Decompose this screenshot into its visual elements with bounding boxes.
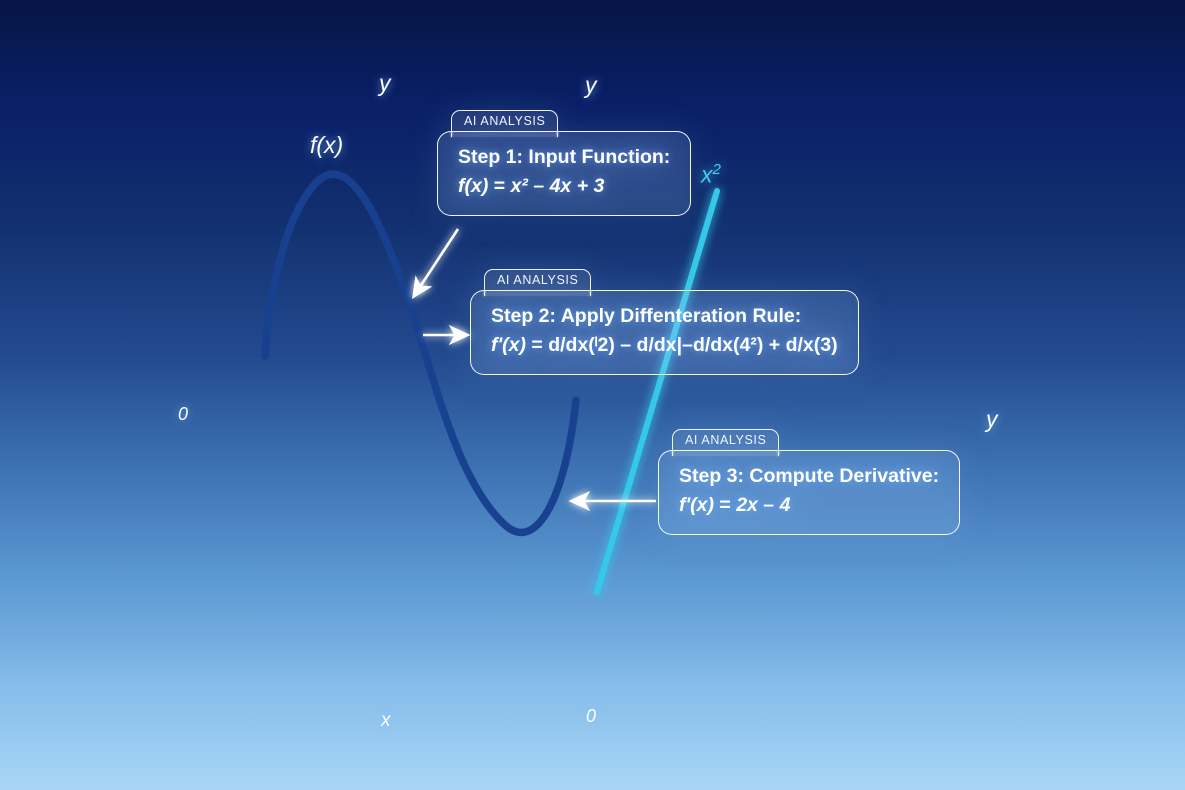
formula-rhs: x² – 4x + 3 [511, 175, 605, 197]
card-step-formula: f'(x) = 2x – 4 [679, 492, 939, 518]
axis-label-origin-bottom: 0 [586, 706, 596, 727]
card-step-formula: f'(x) = d/dx(ˡ2) – d/dx|–d/dx(4²) + d/x(… [491, 332, 838, 358]
formula-lhs: f'(x) [679, 494, 714, 516]
arrow-step1-to-curve [414, 229, 458, 296]
curve-label-x-squared: x2 [701, 161, 721, 189]
formula-equals: = [719, 494, 730, 516]
ai-analysis-card-step-3[interactable]: AI ANALYSIS Step 3: Compute Derivative: … [658, 429, 960, 535]
card-step-title: Step 1: Input Function: [458, 145, 670, 170]
axis-label-x-bottom: x [381, 710, 391, 732]
ai-analysis-card-body: Step 1: Input Function: f(x) = x² – 4x +… [437, 131, 691, 216]
curve-label-x-squared-base: x [701, 162, 713, 188]
axis-label-origin-left: 0 [178, 404, 188, 425]
formula-equals: = [494, 175, 505, 197]
ai-analysis-card-body: Step 3: Compute Derivative: f'(x) = 2x –… [658, 450, 960, 535]
curve-label-fx: f(x) [310, 132, 343, 159]
formula-lhs: f'(x) [491, 334, 526, 356]
curve-label-x-squared-exponent: 2 [713, 161, 721, 178]
formula-lhs: f(x) [458, 175, 488, 197]
formula-rhs: d/dx(ˡ2) – d/dx|–d/dx(4²) + d/x(3) [548, 334, 837, 356]
axis-label-y-right: y [986, 406, 998, 433]
card-step-formula: f(x) = x² – 4x + 3 [458, 173, 670, 199]
formula-equals: = [531, 334, 542, 356]
card-step-title: Step 2: Apply Diffenteration Rule: [491, 304, 838, 329]
formula-rhs: 2x – 4 [736, 494, 790, 516]
axis-label-y-left: y [379, 70, 391, 97]
axis-label-y-middle: y [585, 72, 597, 99]
card-step-title: Step 3: Compute Derivative: [679, 464, 939, 489]
ai-analysis-card-step-2[interactable]: AI ANALYSIS Step 2: Apply Diffenteration… [470, 269, 859, 375]
ai-analysis-card-body: Step 2: Apply Diffenteration Rule: f'(x)… [470, 290, 859, 375]
blueprint-canvas: y y y 0 x 0 f(x) x2 AI ANALYSIS Step 1: … [0, 0, 1185, 790]
ai-analysis-card-step-1[interactable]: AI ANALYSIS Step 1: Input Function: f(x)… [437, 110, 691, 216]
